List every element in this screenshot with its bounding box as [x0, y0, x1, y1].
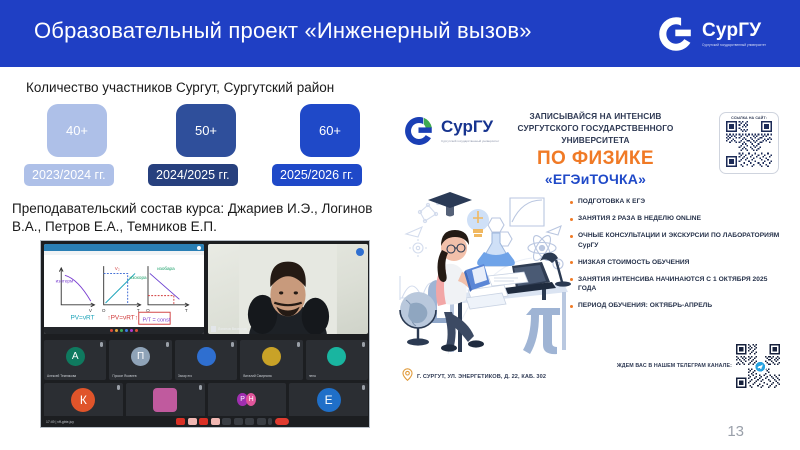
avatar: Н — [246, 393, 257, 406]
avatar — [153, 388, 177, 412]
camera-button[interactable] — [211, 418, 220, 425]
avatar-pair: Р Н — [237, 390, 256, 409]
benefit-text: ПЕРИОД ОБУЧЕНИЯ: ОКТЯБРЬ-АПРЕЛЬ — [578, 301, 712, 311]
video-conference-screenshot: изотерм V V₂ изохора O T — [40, 240, 370, 428]
mic-icon — [231, 342, 234, 347]
avatar — [197, 347, 216, 366]
svg-text:T: T — [185, 308, 188, 313]
mic-icon — [211, 326, 216, 332]
poster-title: ПО ФИЗИКЕ — [493, 149, 698, 168]
vc-participants-row-1: А Алексей Темникова П Прокоп Яковлев Зах… — [44, 340, 368, 380]
participant-name: Прокоп Яковлев — [112, 374, 136, 378]
whiteboard-canvas: изотерм V V₂ изохора O T — [44, 255, 204, 327]
mic-icon — [362, 385, 365, 390]
stat-period-2023: 2023/2024 гг. — [24, 164, 114, 186]
bullet-dot-icon — [570, 201, 573, 204]
qr-code-site[interactable]: ССЫЛКА НА САЙТ: — [719, 112, 779, 174]
participant-name: Алексей Темникова — [47, 374, 76, 378]
qr-code-icon — [736, 344, 780, 388]
student-illustration — [392, 188, 572, 360]
browser-taskbar — [44, 327, 204, 334]
svg-text:изобара: изобара — [157, 266, 175, 271]
vc-meeting-info: 17:49 | vff-gbte-juy — [46, 420, 74, 424]
avatar: П — [131, 347, 150, 366]
poster-logo-text: СурГУ Сургутский государственный универс… — [441, 118, 499, 143]
location-pin-icon — [402, 368, 413, 386]
bullet-dot-icon — [570, 218, 573, 221]
bullet-dot-icon — [570, 305, 573, 308]
svg-text:P/T = const: P/T = const — [142, 317, 170, 323]
participant-name: лена — [309, 374, 316, 378]
avatar — [262, 347, 281, 366]
mic-icon — [199, 385, 202, 390]
telegram-label: ЖДЕМ ВАС В НАШЕМ ТЕЛЕГРАМ КАНАЛЕ: — [617, 363, 732, 369]
mic-icon — [166, 342, 169, 347]
header-logo-word: СурГУ — [702, 21, 766, 40]
surgu-logo-icon — [402, 114, 436, 148]
poster-logo-word: СурГУ — [441, 117, 493, 136]
poster-benefits-list: ПОДГОТОВКА К ЕГЭ ЗАНЯТИЯ 2 РАЗА В НЕДЕЛЮ… — [570, 197, 785, 318]
physics-graphs-icon: изотерм V V₂ изохора O T — [44, 255, 204, 327]
svg-text:изотерм: изотерм — [56, 279, 73, 284]
more-options-button[interactable] — [268, 418, 272, 425]
poster-logo-subtitle: Сургутский государственный университет — [441, 139, 499, 143]
camera-off-indicator[interactable] — [199, 418, 208, 425]
vc-participant-tile[interactable]: лена — [306, 340, 368, 380]
avatar: Е — [317, 388, 341, 412]
mute-indicator[interactable] — [176, 418, 185, 425]
vc-participant-tile[interactable]: Виталий Смирнова — [240, 340, 302, 380]
qr-code-icon — [726, 121, 772, 167]
taskbar-dot — [135, 329, 138, 332]
list-item: ЗАНЯТИЯ 2 РАЗА В НЕДЕЛЮ ONLINE — [570, 214, 785, 224]
benefit-text: ЗАНЯТИЯ ИНТЕНСИВА НАЧИНАЮТСЯ С 1 ОКТЯБРЯ… — [578, 275, 785, 294]
leave-call-button[interactable] — [275, 418, 289, 425]
vc-speaker-pane: Логинов Вячеслав — [208, 244, 368, 334]
svg-text:O: O — [102, 308, 106, 313]
list-item: НИЗКАЯ СТОИМОСТЬ ОБУЧЕНИЯ — [570, 258, 785, 268]
stat-period-2024: 2024/2025 гг. — [148, 164, 238, 186]
taskbar-dot — [115, 329, 118, 332]
list-item: ПЕРИОД ОБУЧЕНИЯ: ОКТЯБРЬ-АПРЕЛЬ — [570, 301, 785, 311]
svg-text:V: V — [89, 308, 93, 313]
page-number: 13 — [727, 423, 744, 440]
svg-text:изохора: изохора — [130, 275, 148, 280]
mic-icon — [100, 342, 103, 347]
vc-participant-tile[interactable]: Захар его — [175, 340, 237, 380]
raise-hand-button[interactable] — [257, 418, 266, 425]
stat-value: 40+ — [66, 123, 88, 138]
speaker-portrait — [208, 244, 368, 334]
stat-card-2025: 60+ — [300, 104, 360, 157]
taskbar-dot — [120, 329, 123, 332]
taskbar-dot — [125, 329, 128, 332]
list-item: ПОДГОТОВКА К ЕГЭ — [570, 197, 785, 207]
benefit-text: ЗАНЯТИЯ 2 РАЗА В НЕДЕЛЮ ONLINE — [578, 214, 701, 224]
vc-participant-tile[interactable]: П Прокоп Яковлев — [109, 340, 171, 380]
bullet-dot-icon — [570, 278, 573, 281]
stat-period-2025: 2025/2026 гг. — [272, 164, 362, 186]
svg-text:V₂: V₂ — [115, 266, 120, 271]
header-logo-text: СурГУ Сургутский государственный универс… — [702, 21, 766, 47]
qr-code-telegram[interactable] — [736, 344, 780, 388]
list-item: ОЧНЫЕ КОНСУЛЬТАЦИИ И ЭКСКУРСИИ ПО ЛАБОРА… — [570, 231, 785, 250]
vc-shared-screen-pane: изотерм V V₂ изохора O T — [44, 244, 204, 334]
vc-controls — [176, 418, 289, 425]
benefit-text: ОЧНЫЕ КОНСУЛЬТАЦИИ И ЭКСКУРСИИ ПО ЛАБОРА… — [578, 231, 785, 250]
vc-toolbar: 17:49 | vff-gbte-juy — [41, 416, 370, 427]
svg-text:↑PV=νRT↑: ↑PV=νRT↑ — [107, 315, 138, 322]
microphone-button[interactable] — [188, 418, 197, 425]
browser-title-bar — [44, 244, 204, 251]
slide-root: Образовательный проект «Инженерный вызов… — [0, 0, 800, 450]
stats-caption: Количество участников Сургут, Сургутский… — [26, 80, 334, 95]
taskbar-dot — [130, 329, 133, 332]
stat-value: 50+ — [195, 123, 217, 138]
poster-logo: СурГУ Сургутский государственный универс… — [402, 114, 499, 148]
page-title: Образовательный проект «Инженерный вызов… — [34, 18, 532, 44]
poster-headline: ЗАПИСЫВАЙСЯ НА ИНТЕНСИВ СУРГУТСКОГО ГОСУ… — [493, 110, 698, 186]
participant-name: Виталий Смирнова — [243, 374, 271, 378]
avatar: А — [66, 347, 85, 366]
poster-address: Г. СУРГУТ, УЛ. ЭНЕРГЕТИКОВ, Д. 22, КАБ. … — [402, 368, 546, 386]
poster-subtitle: «ЕГЭиТОЧКА» — [493, 172, 698, 186]
qr-site-label: ССЫЛКА НА САЙТ: — [731, 116, 767, 120]
vc-participant-tile[interactable]: А Алексей Темникова — [44, 340, 106, 380]
mic-icon — [362, 342, 365, 347]
taskbar-dot — [110, 329, 113, 332]
promo-poster: СурГУ Сургутский государственный универс… — [388, 92, 792, 404]
present-screen-button[interactable] — [222, 418, 231, 425]
avatar — [327, 347, 346, 366]
bullet-dot-icon — [570, 261, 573, 264]
vc-main-panes: изотерм V V₂ изохора O T — [41, 241, 370, 337]
teachers-text: Преподавательский состав курса: Джариев … — [12, 200, 382, 236]
poster-headline-line1: ЗАПИСЫВАЙСЯ НА ИНТЕНСИВ — [493, 110, 698, 122]
surgu-logo-icon — [656, 14, 696, 54]
speaker-name-label: Логинов Вячеслав — [211, 326, 247, 332]
participant-name: Захар его — [178, 374, 192, 378]
mic-icon — [297, 342, 300, 347]
stat-card-2024: 50+ — [176, 104, 236, 157]
poster-headline-line2: СУРГУТСКОГО ГОСУДАРСТВЕННОГО УНИВЕРСИТЕТ… — [493, 122, 698, 146]
stat-card-2023: 40+ — [47, 104, 107, 157]
benefit-text: ПОДГОТОВКА К ЕГЭ — [578, 197, 645, 207]
reactions-button[interactable] — [234, 418, 243, 425]
record-button[interactable] — [245, 418, 254, 425]
svg-text:PV=νRT: PV=νRT — [70, 315, 94, 322]
mic-icon — [117, 385, 120, 390]
poster-telegram: ЖДЕМ ВАС В НАШЕМ ТЕЛЕГРАМ КАНАЛЕ: — [617, 344, 780, 388]
benefit-text: НИЗКАЯ СТОИМОСТЬ ОБУЧЕНИЯ — [578, 258, 689, 268]
header-logo-subtitle: Сургутский государственный университет — [702, 43, 766, 47]
address-text: Г. СУРГУТ, УЛ. ЭНЕРГЕТИКОВ, Д. 22, КАБ. … — [417, 374, 546, 380]
slide-header: Образовательный проект «Инженерный вызов… — [0, 0, 800, 67]
bullet-dot-icon — [570, 235, 573, 238]
list-item: ЗАНЯТИЯ ИНТЕНСИВА НАЧИНАЮТСЯ С 1 ОКТЯБРЯ… — [570, 275, 785, 294]
header-logo: СурГУ Сургутский государственный универс… — [656, 7, 786, 61]
stat-value: 60+ — [319, 123, 341, 138]
avatar: К — [71, 388, 95, 412]
